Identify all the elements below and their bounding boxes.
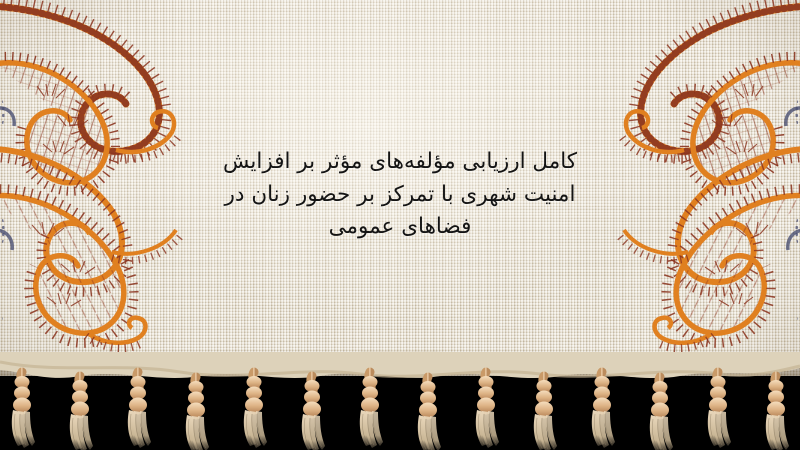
- knotted-tassel-fringe: [0, 352, 800, 450]
- slide-title: کامل ارزیابی مؤلفه‌های مؤثر بر افزایش ام…: [190, 146, 610, 244]
- slide-canvas: کامل ارزیابی مؤلفه‌های مؤثر بر افزایش ام…: [0, 0, 800, 450]
- title-line-2: امنیت شهری با تمرکز بر حضور زنان در: [190, 179, 610, 212]
- title-line-1: کامل ارزیابی مؤلفه‌های مؤثر بر افزایش: [190, 146, 610, 179]
- title-line-3: فضاهای عمومی: [190, 211, 610, 244]
